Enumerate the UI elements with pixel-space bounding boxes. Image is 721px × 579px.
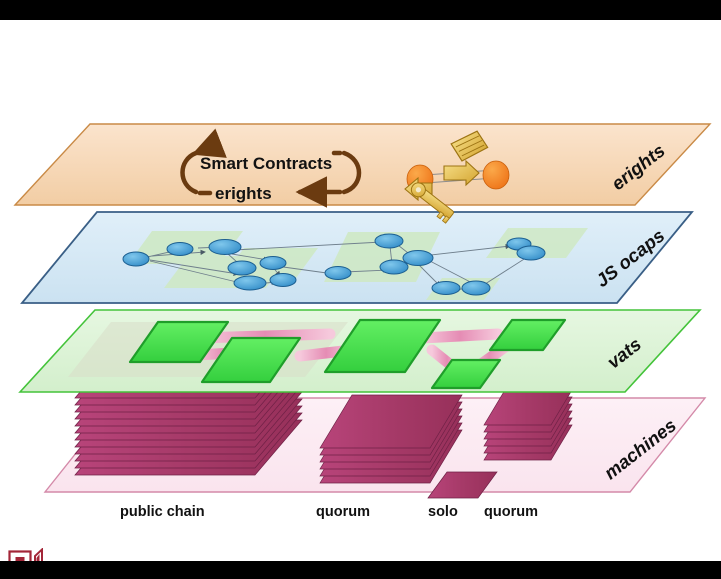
layer-erights[interactable]: Smart Contracts erights xyxy=(15,124,710,223)
party-orange-icon xyxy=(483,161,509,189)
caption-solo: solo xyxy=(428,504,458,520)
ocap-node[interactable] xyxy=(325,267,351,280)
ocap-node[interactable] xyxy=(380,260,408,274)
ocap-node[interactable] xyxy=(228,261,256,275)
ocap-node[interactable] xyxy=(234,276,266,290)
caption-public-chain: public chain xyxy=(120,504,205,520)
video-viewport: machines xyxy=(0,0,721,579)
ocap-node[interactable] xyxy=(375,234,403,248)
ocap-node[interactable] xyxy=(517,246,545,260)
ocap-node[interactable] xyxy=(209,240,241,255)
layer-vats[interactable]: vats xyxy=(20,310,700,392)
ocap-node[interactable] xyxy=(270,274,296,287)
smart-contracts-label: Smart Contracts xyxy=(200,154,332,173)
slide-canvas: machines xyxy=(0,20,721,561)
caption-quorum-a: quorum xyxy=(316,504,370,520)
ocap-node[interactable] xyxy=(123,252,149,266)
layer-erights-plane xyxy=(15,124,710,205)
ocap-node[interactable] xyxy=(403,251,433,266)
letterbox-top-bar xyxy=(0,0,721,20)
layered-stack-diagram: machines xyxy=(0,20,721,561)
layer-js-ocaps[interactable]: JS ocaps xyxy=(22,212,692,303)
ocap-node[interactable] xyxy=(432,282,460,295)
ocap-node[interactable] xyxy=(462,281,490,295)
ocap-node[interactable] xyxy=(167,243,193,256)
letterbox-bottom-bar xyxy=(0,561,721,579)
camcorder-record-icon[interactable] xyxy=(8,548,50,561)
erights-cycle-label: erights xyxy=(215,184,272,203)
ocap-node[interactable] xyxy=(260,257,286,270)
caption-quorum-b: quorum xyxy=(484,504,538,520)
